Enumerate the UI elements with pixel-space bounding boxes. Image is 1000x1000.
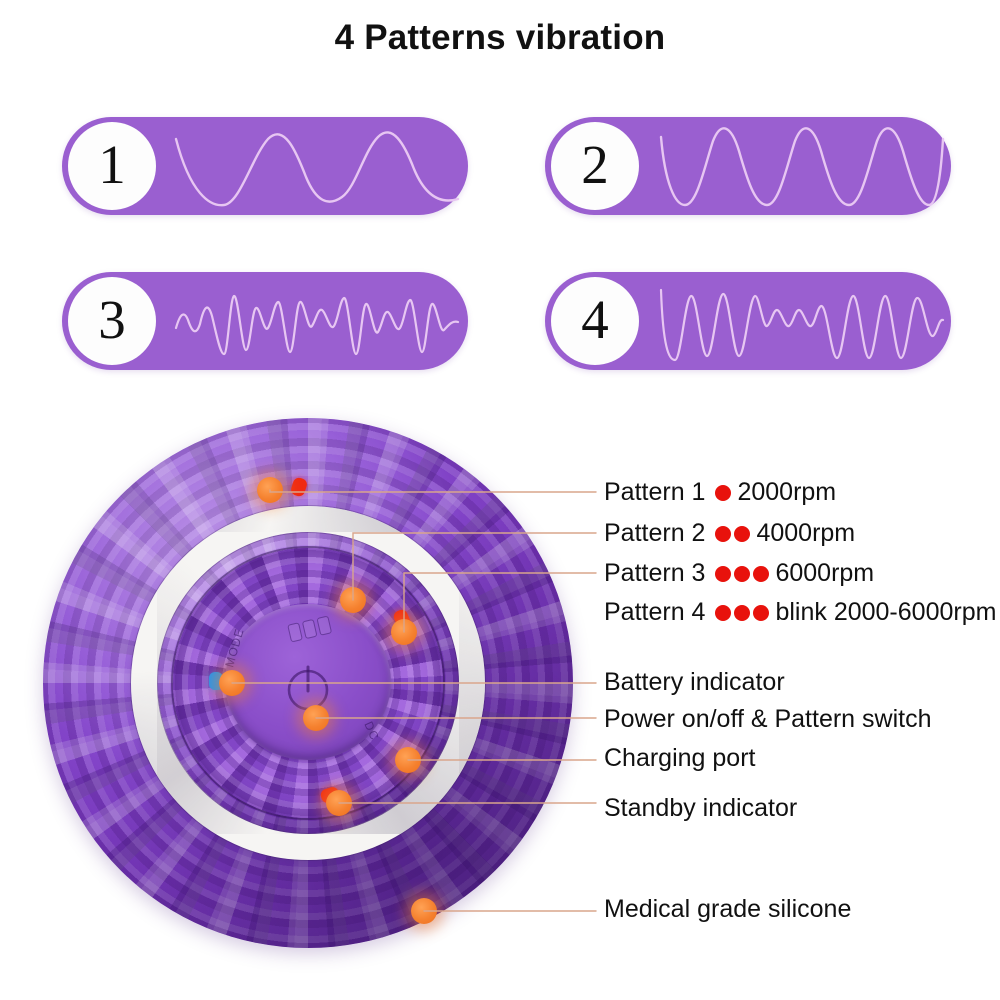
battery-bar-2	[302, 619, 318, 639]
product-image-massage-ball: MODE DC	[43, 418, 573, 948]
marker-pattern-1	[257, 477, 283, 503]
callout-text-charging-port: Charging port	[604, 744, 755, 773]
waveform-2	[655, 121, 947, 211]
pattern-number-badge-3: 3	[68, 277, 156, 365]
rpm-value-pattern-3: 6000rpm	[775, 559, 874, 588]
callout-label-pattern-3: Pattern 3 6000rpm	[604, 559, 874, 588]
pattern-number-3: 3	[98, 292, 126, 347]
callout-label-power-pattern-switch: Power on/off & Pattern switch	[604, 705, 931, 734]
pattern-number-1: 1	[98, 137, 126, 192]
callout-text-medical-grade-silicone: Medical grade silicone	[604, 895, 851, 924]
pattern-number-4: 4	[581, 292, 609, 347]
pattern-number-badge-4: 4	[551, 277, 639, 365]
waveform-4	[655, 276, 947, 366]
callout-text-pattern-1: Pattern 1	[604, 478, 705, 507]
rpm-dots-pattern-3	[715, 566, 769, 582]
battery-indicator-bars	[287, 616, 332, 643]
callout-text-battery-indicator: Battery indicator	[604, 668, 785, 697]
callout-text-pattern-4: Pattern 4	[604, 598, 705, 627]
pattern-card-4[interactable]: 4	[545, 272, 951, 370]
control-hub[interactable]: MODE DC	[225, 604, 391, 760]
pattern-card-3[interactable]: 3	[62, 272, 468, 370]
callout-text-standby-indicator: Standby indicator	[604, 794, 797, 823]
battery-bar-3	[316, 616, 332, 636]
callout-text-pattern-3: Pattern 3	[604, 559, 705, 588]
rpm-dots-pattern-1	[715, 485, 731, 501]
pattern-card-2[interactable]: 2	[545, 117, 951, 215]
pattern-card-1[interactable]: 1	[62, 117, 468, 215]
callout-label-medical-grade-silicone: Medical grade silicone	[604, 895, 851, 924]
pattern-number-2: 2	[581, 137, 609, 192]
callout-label-standby-indicator: Standby indicator	[604, 794, 797, 823]
rpm-value-pattern-2: 4000rpm	[756, 519, 855, 548]
pattern-number-badge-2: 2	[551, 122, 639, 210]
waveform-1	[172, 121, 464, 211]
marker-battery-indicator	[219, 670, 245, 696]
page-title: 4 Patterns vibration	[0, 18, 1000, 58]
callout-text-power-pattern-switch: Power on/off & Pattern switch	[604, 705, 931, 734]
marker-pattern-2	[340, 587, 366, 613]
callout-text-pattern-2: Pattern 2	[604, 519, 705, 548]
pattern-number-badge-1: 1	[68, 122, 156, 210]
rpm-dots-pattern-2	[715, 526, 750, 542]
callout-label-battery-indicator: Battery indicator	[604, 668, 785, 697]
callout-label-pattern-1: Pattern 1 2000rpm	[604, 478, 836, 507]
marker-medical-silicone	[411, 898, 437, 924]
marker-standby-indicator	[326, 790, 352, 816]
rpm-value-pattern-4: blink 2000-6000rpm	[775, 598, 996, 627]
marker-charging-port	[395, 747, 421, 773]
rpm-dots-pattern-4	[715, 605, 769, 621]
callout-label-pattern-2: Pattern 2 4000rpm	[604, 519, 855, 548]
infographic-stage: 4 Patterns vibration 1 2 3	[0, 0, 1000, 1000]
waveform-3	[172, 276, 464, 366]
marker-pattern-3	[391, 619, 417, 645]
callout-label-charging-port: Charging port	[604, 744, 755, 773]
marker-power-switch	[303, 705, 329, 731]
battery-bar-1	[287, 622, 303, 642]
callout-label-pattern-4: Pattern 4 blink 2000-6000rpm	[604, 598, 996, 627]
rpm-value-pattern-1: 2000rpm	[737, 478, 836, 507]
